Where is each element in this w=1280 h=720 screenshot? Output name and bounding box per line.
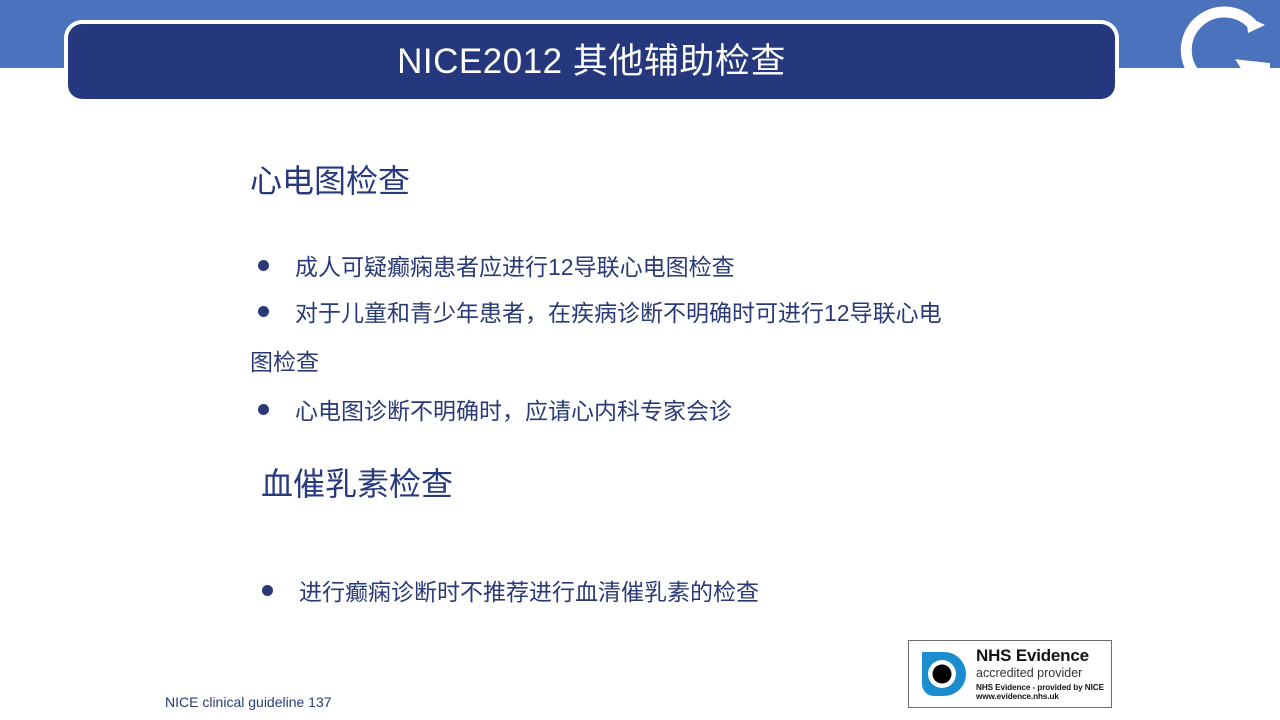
nhs-evidence-eye-mark-icon	[914, 646, 970, 702]
list-item-label: 成人可疑癫痫患者应进行12导联心电图检查	[295, 254, 735, 280]
list-item-label: 进行癫痫诊断时不推荐进行血清催乳素的检查	[299, 579, 759, 605]
bullet-dot-icon	[258, 404, 269, 415]
slide-title-plate: NICE2012 其他辅助检查	[68, 24, 1115, 99]
section-heading-prolactin: 血催乳素检查	[261, 468, 453, 500]
nhs-evidence-accreditation-logo: NHS Evidence accredited provider NHS Evi…	[908, 640, 1112, 708]
list-item: 成人可疑癫痫患者应进行12导联心电图检查	[258, 254, 735, 280]
slide-body: 心电图检查 成人可疑癫痫患者应进行12导联心电图检查 对于儿童和青少年患者，在疾…	[0, 100, 1280, 660]
list-item: 心电图诊断不明确时，应请心内科专家会诊	[258, 398, 732, 424]
list-item-wrapped-line: 图检查	[250, 349, 319, 375]
nhs-logo-subtitle: accredited provider	[976, 667, 1104, 680]
circular-arrow-c-icon	[1160, 2, 1270, 102]
list-item-label: 心电图诊断不明确时，应请心内科专家会诊	[295, 398, 732, 424]
section-heading-ecg: 心电图检查	[250, 165, 410, 197]
list-item: 进行癫痫诊断时不推荐进行血清催乳素的检查	[262, 579, 759, 605]
list-item-label: 对于儿童和青少年患者，在疾病诊断不明确时可进行12导联心电	[295, 300, 942, 326]
bullet-dot-icon	[262, 585, 273, 596]
nhs-logo-text-block: NHS Evidence accredited provider NHS Evi…	[976, 647, 1104, 702]
bullet-dot-icon	[258, 306, 269, 317]
footer-guideline-reference: NICE clinical guideline 137	[165, 695, 332, 709]
list-item: 对于儿童和青少年患者，在疾病诊断不明确时可进行12导联心电	[258, 300, 942, 326]
page-title: NICE2012 其他辅助检查	[397, 44, 786, 79]
nhs-logo-url: www.evidence.nhs.uk	[976, 693, 1104, 701]
bullet-dot-icon	[258, 260, 269, 271]
nhs-logo-provider-line: NHS Evidence - provided by NICE	[976, 684, 1104, 692]
nhs-logo-title: NHS Evidence	[976, 647, 1104, 664]
